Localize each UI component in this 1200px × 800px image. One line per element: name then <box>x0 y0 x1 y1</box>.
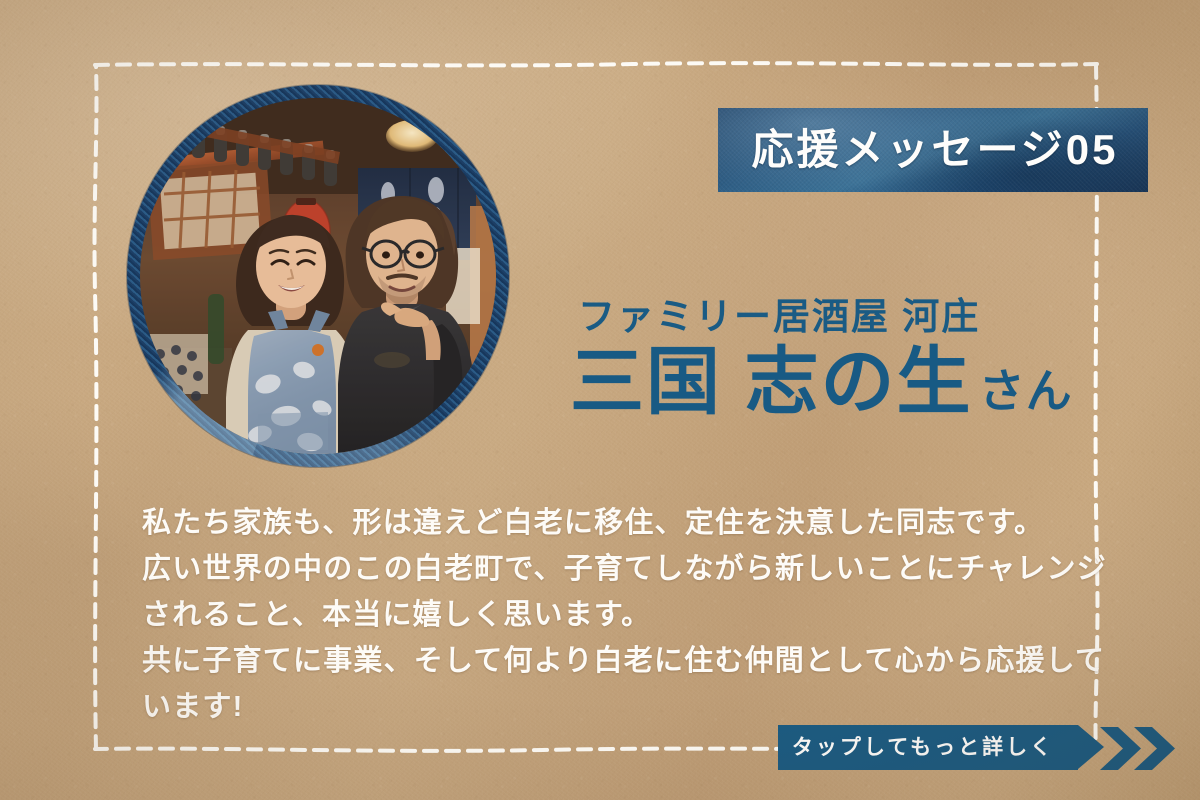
portrait-photo <box>127 85 509 467</box>
message-line: 私たち家族も、形は違えど白老に移住、定住を決意した同志です。 <box>142 500 1072 546</box>
person-name-row: 三国 志の生 さん <box>570 345 1073 419</box>
message-line: 共に子育てに事業、そして何より白老に住む仲間として心から応援して <box>142 638 1072 684</box>
cta-bar[interactable]: タップしてもっと詳しく <box>778 725 1078 770</box>
cta-label: タップしてもっと詳しく <box>792 737 1054 758</box>
shop-name: ファミリー居酒屋 河庄 <box>578 298 980 335</box>
photo-image <box>140 98 496 454</box>
person-name: 三国 志の生 <box>570 345 973 419</box>
message-body: 私たち家族も、形は違えど白老に移住、定住を決意した同志です。 広い世界の中のこの… <box>142 500 1072 730</box>
person-name-suffix: さん <box>979 368 1073 414</box>
message-banner: 応援メッセージ05 <box>718 108 1148 192</box>
poster-root: 応援メッセージ05 ファミリー居酒屋 河庄 三国 志の生 さん 私たち家族も、形… <box>0 0 1200 800</box>
tap-for-details-button[interactable]: タップしてもっと詳しく <box>778 725 1086 770</box>
message-line: います! <box>142 684 1072 730</box>
message-line: されること、本当に嬉しく思います。 <box>142 592 1072 638</box>
message-line: 広い世界の中のこの白老町で、子育てしながら新しいことにチャレンジ <box>142 546 1072 592</box>
banner-label: 応援メッセージ05 <box>718 108 1148 192</box>
